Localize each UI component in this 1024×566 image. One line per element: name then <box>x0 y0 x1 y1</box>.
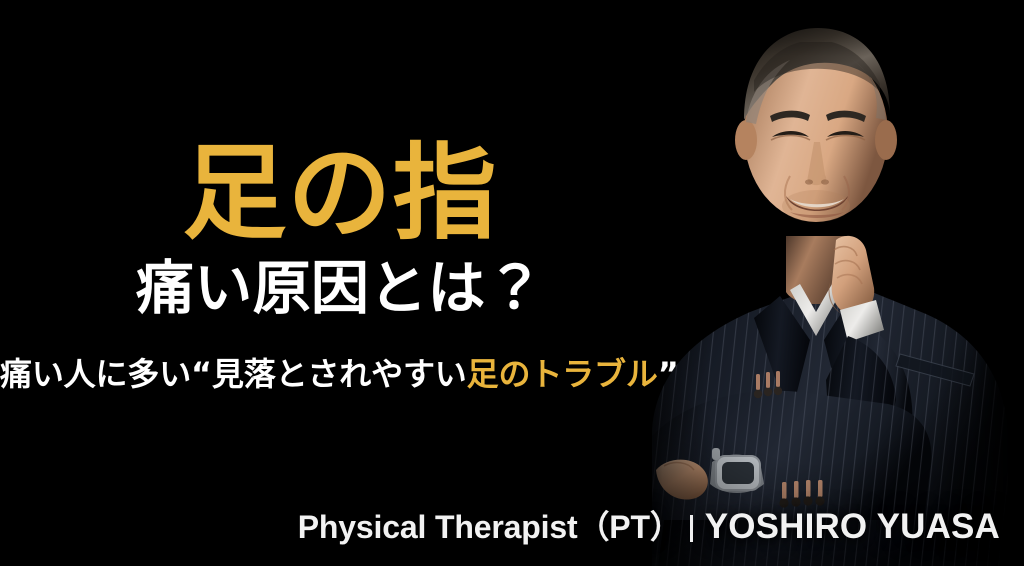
shirt-cuff-upper <box>840 300 884 342</box>
nose <box>808 142 827 185</box>
credit-line: Physical Therapist（PT）YOSHIRO YUASA <box>0 502 1000 548</box>
left-lapel <box>754 296 810 420</box>
shirt-collar <box>790 284 842 336</box>
head <box>735 28 897 222</box>
eyebrow-left <box>770 111 810 122</box>
teeth <box>790 199 844 207</box>
neck <box>786 236 846 304</box>
forearm-right <box>826 336 896 448</box>
credit-role: Physical Therapist（PT） <box>298 509 682 545</box>
hair-gray-temple <box>746 60 790 124</box>
headline-main: 足の指 <box>0 138 680 248</box>
chest-pocket <box>896 354 974 386</box>
right-lapel <box>824 296 880 424</box>
thumbnail-canvas: 足の指 痛い原因とは？ 痛い人に多い“見落とされやすい足のトラブル” Physi… <box>0 0 1024 566</box>
headline-lead-suffix: ” <box>658 355 679 393</box>
wristwatch <box>710 448 764 493</box>
mouth <box>786 196 848 211</box>
credit-name: YOSHIRO YUASA <box>705 507 1000 546</box>
headline-lead-prefix: 痛い人に多い“見落とされやすい <box>0 355 467 393</box>
crossed-forearm <box>652 391 931 520</box>
eye-left <box>772 131 809 137</box>
sleeve-buttons-upper <box>754 371 782 398</box>
headline-lead: 痛い人に多い“見落とされやすい足のトラブル” <box>0 355 665 393</box>
upper-arm-right <box>840 320 912 470</box>
hair <box>744 28 890 120</box>
eye-right <box>827 131 864 137</box>
eyebrow-right <box>826 111 866 122</box>
headline-block: 足の指 痛い原因とは？ 痛い人に多い“見落とされやすい足のトラブル” <box>0 0 680 566</box>
headline-lead-accent: 足のトラブル <box>467 355 658 393</box>
hand-at-chin <box>832 236 875 315</box>
headline-sub: 痛い原因とは？ <box>0 258 680 319</box>
credit-divider-icon <box>690 515 693 542</box>
